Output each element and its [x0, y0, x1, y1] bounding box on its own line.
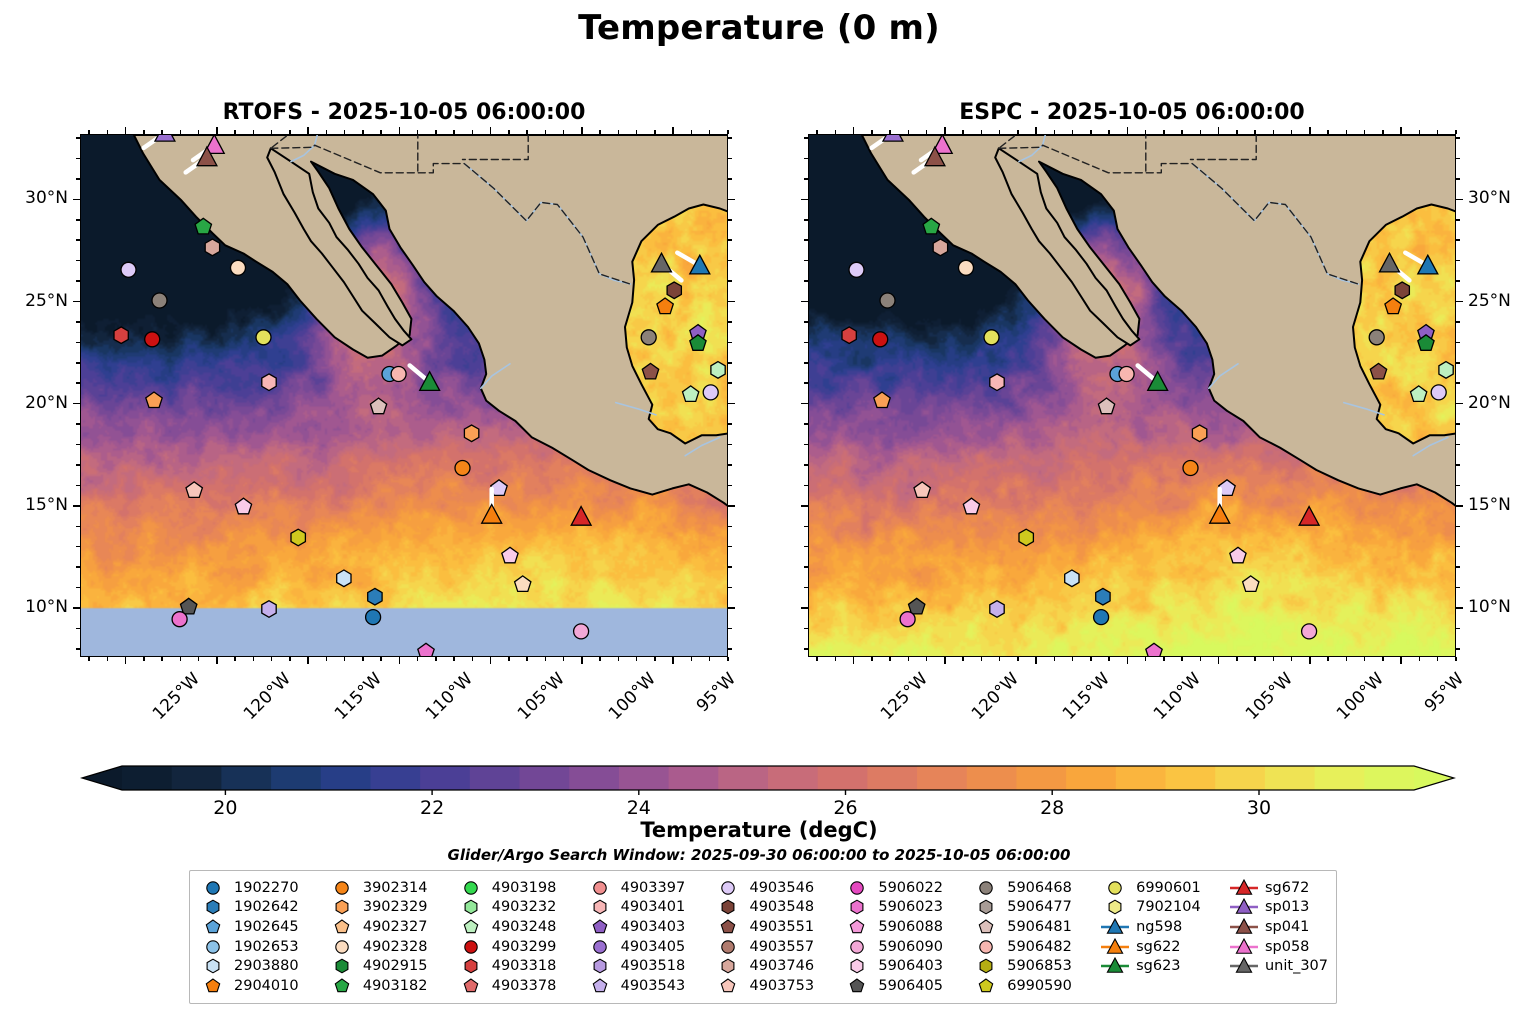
x-tick [1236, 657, 1238, 661]
colorbar [80, 763, 1456, 795]
colorbar-segment [321, 766, 371, 790]
legend-item[interactable]: 4903746 [713, 957, 842, 977]
y-tick-right [1456, 526, 1460, 528]
legend-item[interactable]: 1902653 [198, 937, 327, 957]
x-tick [307, 657, 309, 664]
x-tick-top [1035, 127, 1037, 134]
legend-item[interactable]: 4903397 [585, 878, 714, 898]
legend-label: 4903753 [749, 979, 814, 994]
legend-marker-circle-icon [585, 938, 615, 956]
colorbar-segment [172, 766, 222, 790]
y-tick-right [1456, 362, 1460, 364]
legend-label: 4903551 [749, 920, 814, 935]
y-tick-right [1456, 485, 1460, 487]
y-tick-right [728, 464, 732, 466]
y-tick-label: 30°N [1468, 188, 1518, 208]
x-tick-top [1127, 127, 1129, 134]
legend-item[interactable]: 5906468 [971, 878, 1100, 898]
legend-item[interactable]: sg623 [1100, 957, 1229, 977]
legend-item[interactable]: 3902329 [327, 898, 456, 918]
legend-label: 3902314 [363, 881, 428, 896]
colorbar-tick-label: 20 [213, 797, 237, 819]
legend-item[interactable]: 4903248 [456, 917, 585, 937]
y-tick-right [1456, 628, 1460, 630]
map-panel-espc[interactable] [808, 134, 1456, 657]
y-tick-right [728, 199, 735, 201]
x-tick [1309, 657, 1311, 664]
legend-marker-pentagon-icon [713, 918, 743, 936]
colorbar-segment [1215, 766, 1265, 790]
map-marker[interactable] [1119, 367, 1134, 382]
legend-label: sg623 [1136, 959, 1180, 974]
map-marker[interactable] [337, 570, 351, 587]
map-marker[interactable] [574, 624, 589, 639]
x-tick [908, 657, 910, 661]
x-tick [871, 657, 873, 661]
x-tick [581, 657, 583, 664]
legend-label: 4903378 [492, 979, 557, 994]
legend-marker-hexagon-icon [1100, 898, 1130, 916]
legend-item[interactable]: 4903546 [713, 878, 842, 898]
y-tick-right [1456, 260, 1460, 262]
map-marker[interactable] [1192, 425, 1206, 442]
legend-item[interactable]: sp041 [1229, 917, 1328, 937]
legend-marker-hexagon-icon [456, 898, 486, 916]
x-tick [326, 657, 328, 661]
x-tick [926, 657, 928, 661]
legend-item[interactable]: 5906481 [971, 917, 1100, 937]
legend-item[interactable]: 6990601 [1100, 878, 1229, 898]
legend-marker-hexagon-icon [713, 957, 743, 975]
map-marker[interactable] [172, 612, 187, 627]
legend-label: 2903880 [234, 959, 299, 974]
legend-label: 4903546 [749, 881, 814, 896]
legend-item[interactable]: 4902915 [327, 957, 456, 977]
legend-item[interactable]: 4903401 [585, 898, 714, 918]
x-tick [107, 657, 109, 661]
legend-item[interactable]: sg622 [1100, 937, 1229, 957]
legend-marker-triangle-icon [1229, 879, 1259, 897]
legend-marker-hexagon-icon [971, 898, 1001, 916]
map-panel-rtofs[interactable] [80, 134, 728, 657]
colorbar-tick-label: 24 [627, 797, 651, 819]
colorbar-segment [470, 766, 520, 790]
y-tick-label: 25°N [0, 291, 68, 311]
map-marker[interactable] [231, 260, 246, 275]
legend-item[interactable]: 5906405 [842, 976, 971, 996]
x-tick [1437, 657, 1439, 661]
x-tick [1254, 657, 1256, 661]
legend-item[interactable]: 2903880 [198, 957, 327, 977]
legend-label: 5906482 [1007, 940, 1072, 955]
map-marker[interactable] [1431, 385, 1446, 400]
colorbar-segment [370, 766, 420, 790]
legend-marker-circle-icon [456, 879, 486, 897]
legend-item[interactable]: 5906853 [971, 957, 1100, 977]
x-tick [727, 657, 729, 661]
figure-title: Temperature (0 m) [0, 8, 1518, 48]
map-marker[interactable] [366, 610, 381, 625]
map-marker[interactable] [1096, 588, 1110, 605]
map-marker[interactable] [155, 135, 175, 141]
x-tick-label: 100°W [605, 669, 660, 724]
legend-label: 4903248 [492, 920, 557, 935]
x-tick [962, 657, 964, 661]
y-tick-right [728, 301, 735, 303]
x-tick-top [399, 127, 401, 134]
x-tick-top [125, 127, 127, 134]
x-tick [545, 657, 547, 661]
map-marker[interactable] [291, 529, 305, 546]
map-marker[interactable] [883, 135, 903, 141]
map-marker[interactable] [205, 239, 219, 256]
legend-marker-circle-icon [198, 938, 228, 956]
legend-item[interactable]: 4903232 [456, 898, 585, 918]
legend-label: 5906090 [878, 940, 943, 955]
legend-label: sp013 [1265, 900, 1309, 915]
map-marker[interactable] [873, 332, 888, 347]
y-tick-label: 20°N [1468, 393, 1518, 413]
y-tick-left [73, 403, 80, 405]
colorbar-segment [768, 766, 818, 790]
map-marker[interactable] [1395, 282, 1409, 299]
map-marker[interactable] [900, 612, 915, 627]
y-tick-right [1456, 566, 1460, 568]
legend-item[interactable]: 5906482 [971, 937, 1100, 957]
colorbar-segment [867, 766, 917, 790]
legend-marker-circle-icon [971, 938, 1001, 956]
legend-label: 4903405 [621, 940, 686, 955]
y-tick-right [1456, 280, 1460, 282]
map-marker[interactable] [262, 374, 276, 391]
legend-marker-hexagon-icon [198, 898, 228, 916]
legend-label: 5906853 [1007, 959, 1072, 974]
x-tick-label: 115°W [1059, 669, 1114, 724]
x-tick [1382, 657, 1384, 661]
map-marker[interactable] [145, 332, 160, 347]
colorbar-segment [818, 766, 868, 790]
y-tick-label: 25°N [1468, 291, 1518, 311]
legend-marker-pentagon-icon [971, 918, 1001, 936]
map-marker[interactable] [984, 330, 999, 345]
legend-label: sg672 [1265, 881, 1309, 896]
legend-item[interactable]: 4903548 [713, 898, 842, 918]
y-tick-left [801, 607, 808, 609]
legend-item[interactable]: 4903198 [456, 878, 585, 898]
legend-label: 1902645 [234, 920, 299, 935]
y-tick-right [1456, 587, 1460, 589]
legend-item[interactable]: 4903378 [456, 976, 585, 996]
y-tick-right [728, 648, 732, 650]
legend[interactable]: 1902270190264219026451902653290388029040… [189, 870, 1337, 1004]
legend-item[interactable]: 4903551 [713, 917, 842, 937]
legend-marker-circle-icon [713, 879, 743, 897]
map-marker[interactable] [1019, 529, 1033, 546]
legend-item[interactable]: sg672 [1229, 878, 1328, 898]
map-marker[interactable] [262, 601, 276, 618]
x-tick [654, 657, 656, 661]
x-tick [1218, 657, 1220, 664]
map-marker[interactable] [1183, 461, 1198, 476]
legend-marker-circle-icon [198, 879, 228, 897]
y-tick-left [801, 505, 808, 507]
y-tick-right [728, 178, 732, 180]
map-marker[interactable] [711, 362, 725, 379]
legend-label: 5906481 [1007, 920, 1072, 935]
legend-marker-circle-icon [327, 938, 357, 956]
colorbar-segment [1016, 766, 1066, 790]
legend-item[interactable]: 4903403 [585, 917, 714, 937]
x-tick [1145, 657, 1147, 661]
map-marker[interactable] [990, 374, 1004, 391]
map-marker[interactable] [990, 601, 1004, 618]
legend-item[interactable]: sp058 [1229, 937, 1328, 957]
legend-marker-pentagon-icon [842, 977, 872, 995]
legend-item[interactable]: 4903518 [585, 957, 714, 977]
legend-label: sp058 [1265, 940, 1309, 955]
x-tick-top [1218, 127, 1220, 134]
x-tick [271, 657, 273, 661]
y-tick-right [728, 239, 732, 241]
map-marker[interactable] [1369, 330, 1384, 345]
y-tick-right [1456, 301, 1463, 303]
legend-marker-pentagon-icon [456, 977, 486, 995]
legend-item[interactable]: 5906477 [971, 898, 1100, 918]
legend-item[interactable]: 7902104 [1100, 898, 1229, 918]
x-tick-label: 105°W [1242, 669, 1297, 724]
x-tick [999, 657, 1001, 661]
x-tick-label: 125°W [149, 669, 204, 724]
x-tick [1455, 657, 1457, 661]
legend-item[interactable]: 5906022 [842, 878, 971, 898]
colorbar-segment [917, 766, 967, 790]
legend-item[interactable]: 1902270 [198, 878, 327, 898]
legend-label: 4902327 [363, 920, 428, 935]
map-marker[interactable] [1094, 610, 1109, 625]
colorbar-segment [1265, 766, 1315, 790]
y-tick-right [728, 505, 735, 507]
x-tick [417, 657, 419, 661]
y-tick-right [728, 628, 732, 630]
x-tick [380, 657, 382, 661]
x-tick [399, 657, 401, 664]
legend-marker-hexagon-icon [713, 898, 743, 916]
legend-label: 5906405 [878, 979, 943, 994]
colorbar-extend-arrow [1414, 766, 1454, 790]
colorbar-segment [420, 766, 470, 790]
legend-item[interactable]: 4903299 [456, 937, 585, 957]
x-tick [125, 657, 127, 664]
x-tick [289, 657, 291, 661]
x-tick [1017, 657, 1019, 661]
x-tick [180, 657, 182, 661]
legend-item[interactable]: 4903543 [585, 976, 714, 996]
legend-item[interactable]: 4903557 [713, 937, 842, 957]
legend-label: 4903403 [621, 920, 686, 935]
x-tick [1054, 657, 1056, 661]
legend-item[interactable]: 4903182 [327, 976, 456, 996]
map-marker[interactable] [667, 282, 681, 299]
map-marker[interactable] [849, 262, 864, 277]
legend-marker-triangle-icon [1229, 918, 1259, 936]
legend-item[interactable]: 5906023 [842, 898, 971, 918]
legend-item[interactable]: 6990590 [971, 976, 1100, 996]
x-tick [691, 657, 693, 661]
legend-label: 6990590 [1007, 979, 1072, 994]
map-marker[interactable] [1439, 362, 1453, 379]
map-marker[interactable] [256, 330, 271, 345]
map-marker[interactable] [880, 293, 895, 308]
colorbar-segment [1315, 766, 1365, 790]
y-tick-right [1456, 648, 1460, 650]
y-tick-right [1456, 382, 1460, 384]
map-marker[interactable] [842, 327, 856, 344]
legend-marker-pentagon-icon [198, 977, 228, 995]
y-tick-right [1456, 178, 1460, 180]
map-marker[interactable] [455, 461, 470, 476]
legend-marker-hexagon-icon [198, 957, 228, 975]
legend-item[interactable]: 5906090 [842, 937, 971, 957]
colorbar-segment [967, 766, 1017, 790]
y-tick-right [1456, 444, 1460, 446]
y-tick-label: 15°N [1468, 495, 1518, 515]
legend-item[interactable]: 4902327 [327, 917, 456, 937]
x-tick [1291, 657, 1293, 661]
y-tick-left [73, 301, 80, 303]
panel-title-espc: ESPC - 2025-10-05 06:00:00 [808, 100, 1456, 125]
y-tick-right [1456, 403, 1463, 405]
legend-label: sp041 [1265, 920, 1309, 935]
x-tick [1072, 657, 1074, 661]
legend-marker-circle-icon [971, 879, 1001, 897]
colorbar-segment [1166, 766, 1216, 790]
x-tick-top [490, 127, 492, 134]
x-tick [1200, 657, 1202, 661]
legend-label: 4902328 [363, 940, 428, 955]
legend-marker-pentagon-icon [585, 918, 615, 936]
legend-item[interactable]: 2904010 [198, 976, 327, 996]
legend-item[interactable]: 1902645 [198, 917, 327, 937]
map-marker[interactable] [1302, 624, 1317, 639]
legend-marker-triangle-icon [1229, 938, 1259, 956]
x-tick-top [216, 127, 218, 134]
map-marker[interactable] [464, 425, 478, 442]
legend-label: 1902270 [234, 881, 299, 896]
legend-marker-hexagon-icon [971, 957, 1001, 975]
y-tick-right [728, 526, 732, 528]
x-tick [344, 657, 346, 661]
legend-item[interactable]: 5906403 [842, 957, 971, 977]
y-tick-right [1456, 158, 1460, 160]
x-tick [981, 657, 983, 661]
x-tick [526, 657, 528, 661]
x-tick [599, 657, 601, 661]
legend-marker-hexagon-icon [842, 957, 872, 975]
x-tick-label: 110°W [422, 669, 477, 724]
colorbar-segment [1364, 766, 1414, 790]
x-tick-label: 120°W [240, 669, 295, 724]
legend-label: 4903557 [749, 940, 814, 955]
legend-item[interactable]: 4903405 [585, 937, 714, 957]
colorbar-segment [1116, 766, 1166, 790]
map-marker[interactable] [959, 260, 974, 275]
legend-label: 4903401 [621, 900, 686, 915]
legend-marker-hexagon-icon [585, 898, 615, 916]
map-marker[interactable] [152, 293, 167, 308]
legend-label: 7902104 [1136, 900, 1201, 915]
y-tick-right [728, 219, 732, 221]
y-tick-right [1456, 607, 1463, 609]
legend-label: 5906403 [878, 959, 943, 974]
y-tick-right [1456, 137, 1460, 139]
x-tick [1400, 657, 1402, 664]
legend-marker-circle-icon [585, 879, 615, 897]
legend-label: 4903746 [749, 959, 814, 974]
x-tick [1035, 657, 1037, 664]
y-tick-label: 10°N [1468, 597, 1518, 617]
legend-label: 4903518 [621, 959, 686, 974]
legend-marker-circle-icon [456, 938, 486, 956]
y-tick-right [728, 342, 732, 344]
map-marker[interactable] [368, 588, 382, 605]
map-marker[interactable] [641, 330, 656, 345]
legend-item[interactable]: ng598 [1100, 917, 1229, 937]
x-tick [853, 657, 855, 664]
colorbar-segment [520, 766, 570, 790]
x-tick [1163, 657, 1165, 661]
y-tick-label: 20°N [0, 393, 68, 413]
map-marker[interactable] [933, 239, 947, 256]
legend-subtitle: Glider/Argo Search Window: 2025-09-30 06… [0, 846, 1518, 864]
legend-marker-pentagon-icon [327, 977, 357, 995]
legend-item[interactable]: unit_307 [1229, 957, 1328, 977]
legend-item[interactable]: 4903753 [713, 976, 842, 996]
x-tick [672, 657, 674, 664]
x-tick [435, 657, 437, 661]
map-marker[interactable] [703, 385, 718, 400]
colorbar-segment [122, 766, 172, 790]
legend-item[interactable]: 4902328 [327, 937, 456, 957]
y-tick-right [728, 382, 732, 384]
legend-item[interactable]: 1902642 [198, 898, 327, 918]
x-tick-label: 125°W [877, 669, 932, 724]
map-marker[interactable] [121, 262, 136, 277]
colorbar-tick-label: 28 [1040, 797, 1064, 819]
y-tick-right [728, 607, 735, 609]
legend-marker-hexagon-icon [327, 898, 357, 916]
x-tick [636, 657, 638, 661]
legend-item[interactable]: 5906088 [842, 917, 971, 937]
x-tick-top [581, 127, 583, 134]
x-tick-top [1400, 127, 1402, 134]
legend-item[interactable]: 3902314 [327, 878, 456, 898]
legend-item[interactable]: 4903318 [456, 957, 585, 977]
legend-label: 5906022 [878, 881, 943, 896]
x-tick [618, 657, 620, 661]
x-tick [234, 657, 236, 661]
legend-item[interactable]: sp013 [1229, 898, 1328, 918]
y-tick-right [1456, 505, 1463, 507]
map-marker[interactable] [391, 367, 406, 382]
x-tick [1364, 657, 1366, 661]
panel-title-rtofs: RTOFS - 2025-10-05 06:00:00 [80, 100, 728, 125]
y-tick-right [728, 321, 732, 323]
legend-marker-pentagon-icon [456, 918, 486, 936]
x-tick [709, 657, 711, 661]
map-marker[interactable] [114, 327, 128, 344]
map-marker[interactable] [1065, 570, 1079, 587]
legend-label: 4903198 [492, 881, 557, 896]
